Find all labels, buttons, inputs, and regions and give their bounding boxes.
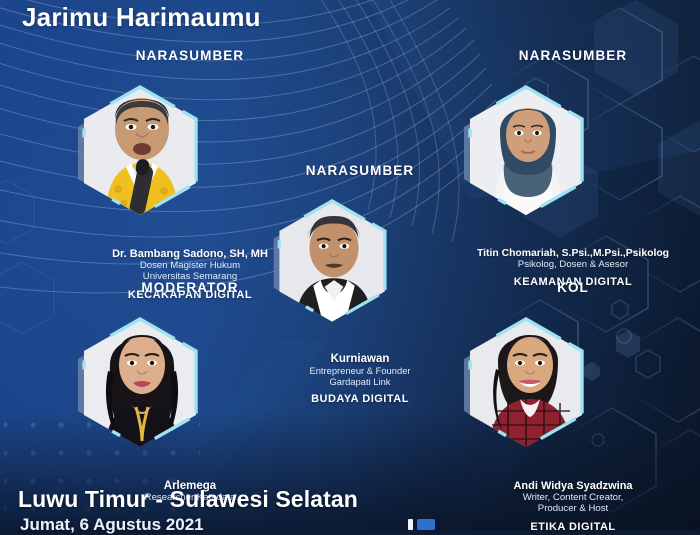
person-name: Titin Chomariah, S.Psi.,M.Psi.,Psikolog <box>448 248 698 259</box>
role-label: NARASUMBER <box>62 48 318 63</box>
hex-portrait-frame <box>448 299 698 475</box>
hex-portrait-frame <box>448 67 698 243</box>
person-title-line-1: Writer, Content Creator, <box>448 492 698 503</box>
logo-square-shape <box>417 519 435 530</box>
person-title-line-2: Producer & Host <box>448 503 698 514</box>
role-label: MODERATOR <box>62 280 318 295</box>
logo-bar-shape <box>408 519 413 530</box>
person-card-arlemega: MODERATOR <box>62 280 318 503</box>
partial-logo-icon <box>408 519 435 530</box>
person-card-titin: NARASUMBER <box>448 48 698 288</box>
footer-date: Jumat, 6 Agustus 2021 <box>20 515 204 535</box>
page-title: Jarimu Harimaumu <box>22 2 261 33</box>
footer-location: Luwu Timur - Sulawesi Selatan <box>18 486 358 513</box>
person-topic: ETIKA DIGITAL <box>448 521 698 533</box>
role-label: KOL <box>448 280 698 295</box>
hex-portrait-frame <box>62 299 318 475</box>
role-label: NARASUMBER <box>258 163 462 178</box>
person-name: Andi Widya Syadzwina <box>448 480 698 492</box>
person-card-andi: KOL <box>448 280 698 533</box>
person-title-line-1: Psikolog, Dosen & Asesor <box>448 259 698 270</box>
role-label: NARASUMBER <box>448 48 698 63</box>
